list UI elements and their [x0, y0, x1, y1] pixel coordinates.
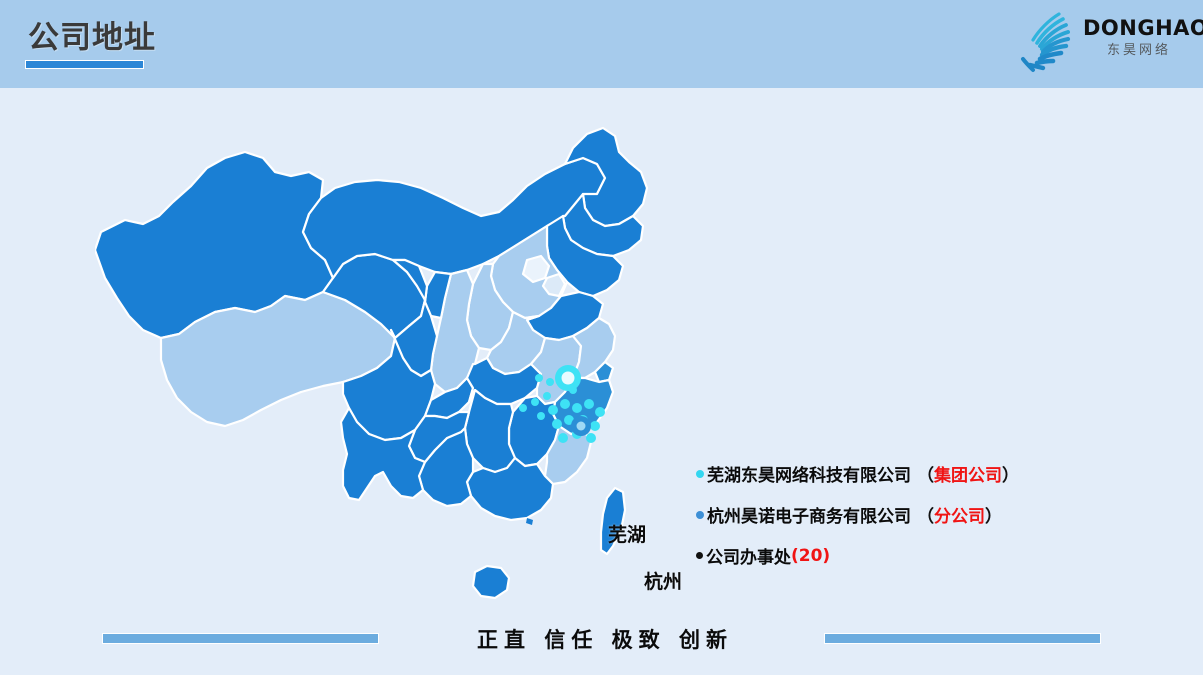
map-label-wuhu: 芜湖: [608, 520, 646, 547]
region-hongkong: [526, 518, 533, 525]
legend-item-offices: 公司办事处 (20): [696, 543, 1166, 568]
marker-hangzhou: [571, 416, 591, 436]
footer-bar-left: [102, 633, 379, 644]
province-guangdong: [467, 458, 553, 520]
map-label-hangzhou: 杭州: [644, 567, 682, 594]
province-hainan: [473, 566, 509, 598]
slide-company-address: 公司地址: [0, 0, 1203, 675]
logo-subtitle: 东昊网络: [1083, 41, 1195, 61]
legend-item-branch-company: 杭州昊诺电子商务有限公司 （分公司）: [696, 502, 1166, 527]
legend-dot-branch-icon: [696, 511, 704, 519]
fan-blades-icon: [1013, 6, 1085, 78]
marker-wuhu: [555, 365, 581, 391]
legend-tag-group: （集团公司）: [917, 461, 1019, 486]
slide-header: 公司地址: [0, 0, 1203, 88]
company-logo: DONGHAO 东昊网络: [1013, 6, 1193, 80]
legend-label-branch: 杭州昊诺电子商务有限公司: [707, 502, 911, 527]
legend-tag-offices: (20): [791, 546, 830, 566]
map-legend: 芜湖东昊网络科技有限公司 （集团公司） 杭州昊诺电子商务有限公司 （分公司） 公…: [696, 461, 1166, 568]
title-underline-accent: [25, 60, 144, 69]
logo-text: DONGHAO 东昊网络: [1083, 16, 1195, 61]
legend-label-offices: 公司办事处: [706, 543, 791, 568]
footer-slogan: 正直 信任 极致 创新: [440, 624, 770, 654]
page-title: 公司地址: [28, 18, 156, 58]
legend-dot-office-icon: [696, 552, 703, 559]
legend-dot-group-icon: [696, 470, 704, 478]
legend-tag-branch: （分公司）: [917, 502, 1002, 527]
legend-label-group: 芜湖东昊网络科技有限公司: [707, 461, 911, 486]
logo-name: DONGHAO: [1083, 16, 1195, 40]
china-map: 芜湖 杭州: [95, 120, 675, 610]
province-beijing: [523, 256, 549, 282]
footer-bar-right: [824, 633, 1101, 644]
legend-item-group-company: 芜湖东昊网络科技有限公司 （集团公司）: [696, 461, 1166, 486]
